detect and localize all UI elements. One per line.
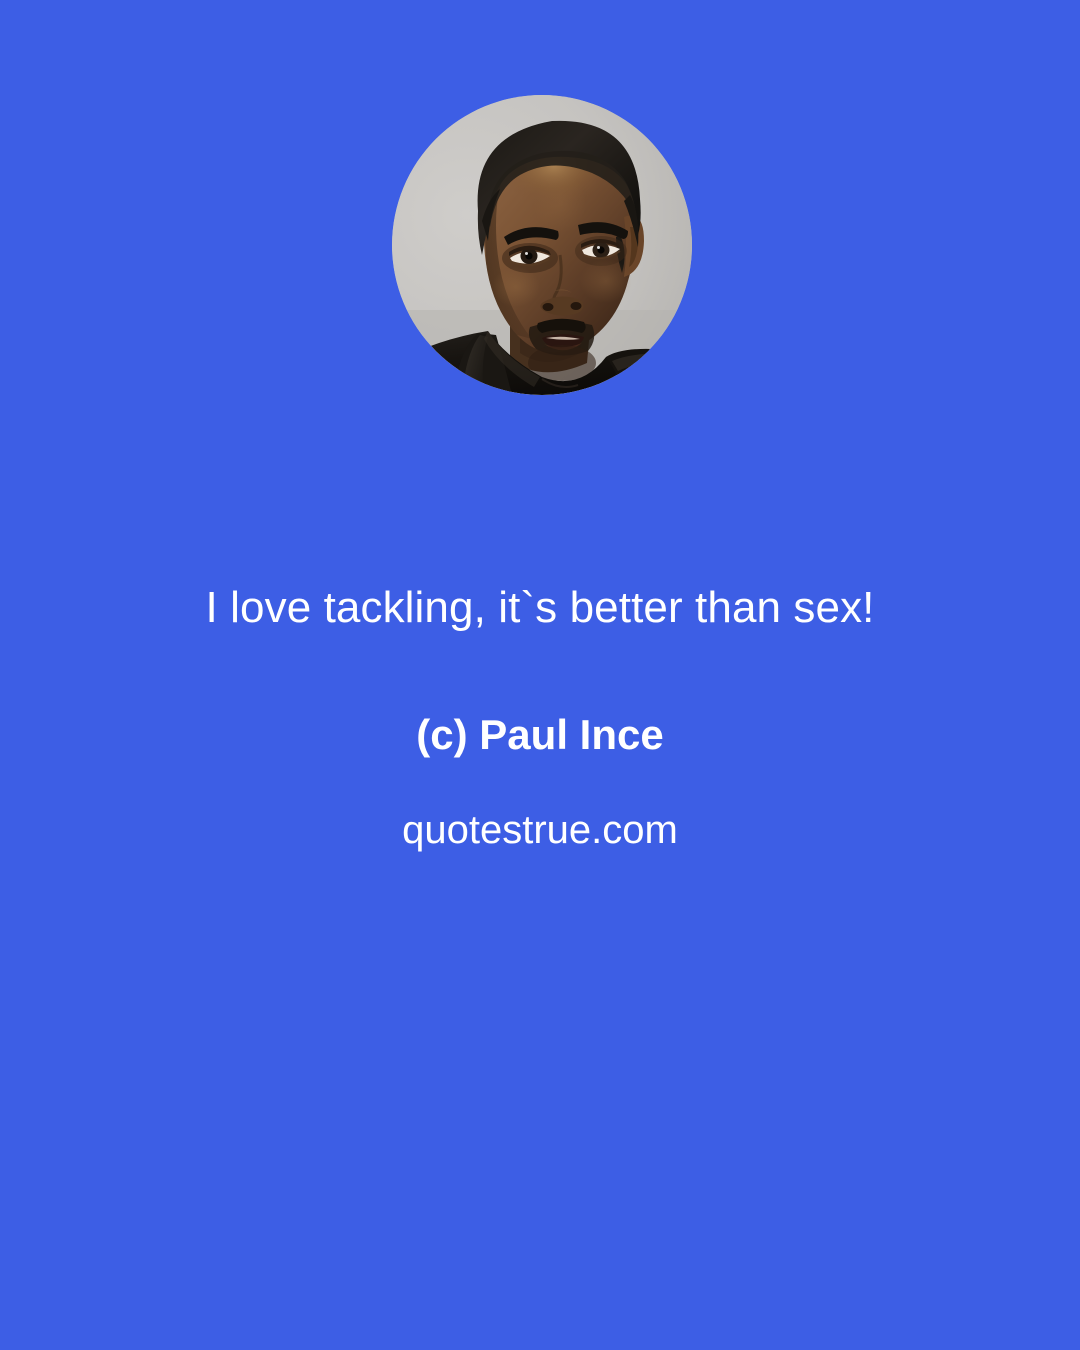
source-website: quotestrue.com	[0, 756, 1080, 850]
portrait-photo	[392, 95, 692, 395]
quote-author: (c) Paul Ince	[0, 656, 1080, 756]
quote-text-block: I love tackling, it`s better than sex! (…	[0, 560, 1080, 850]
quote-card: I love tackling, it`s better than sex! (…	[0, 0, 1080, 1350]
author-portrait-avatar	[392, 95, 692, 395]
quote-text: I love tackling, it`s better than sex!	[0, 560, 1080, 656]
